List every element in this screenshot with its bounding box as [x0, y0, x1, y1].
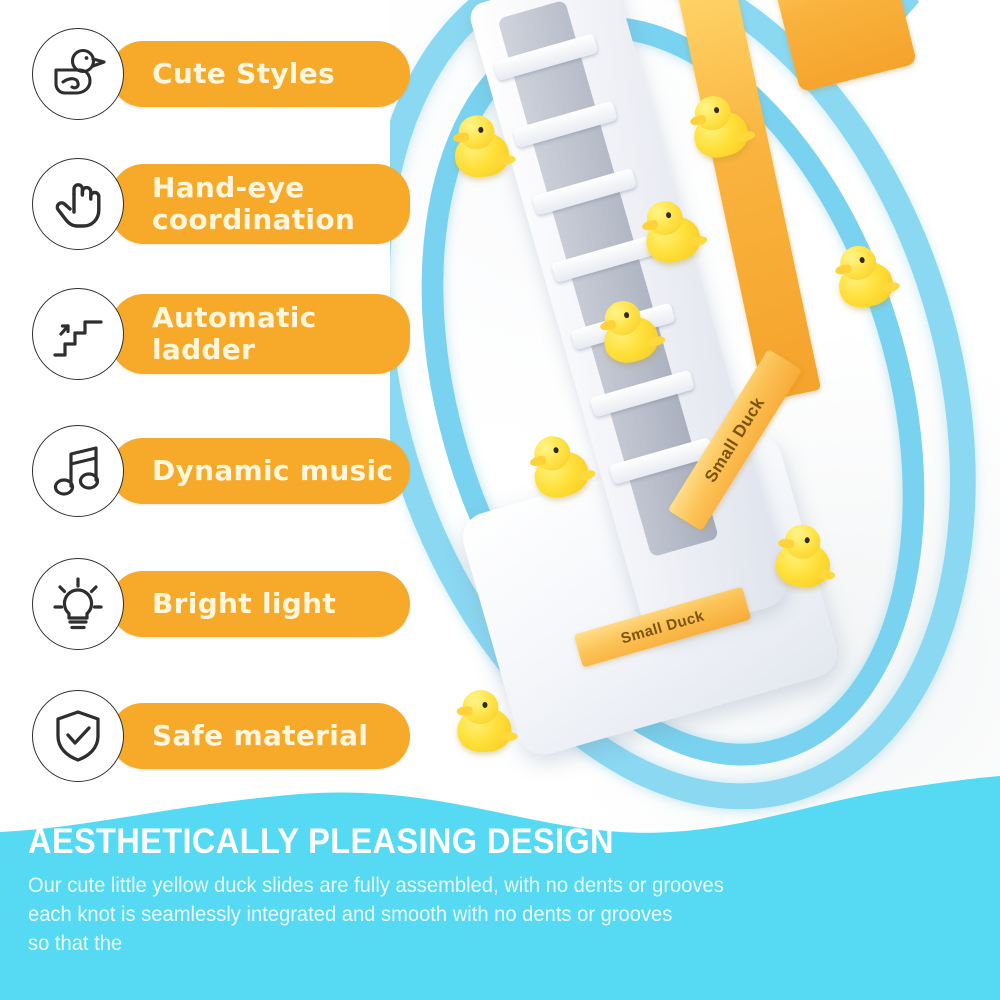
- duck-eye: [804, 537, 810, 543]
- feature-label: Automatic ladder: [152, 302, 317, 367]
- duck-icon: [32, 28, 124, 120]
- feature-label: Hand-eye coordination: [152, 172, 355, 237]
- duck-beak: [599, 319, 617, 332]
- feature-item-hand-eye-coordination[interactable]: Hand-eye coordination: [0, 158, 410, 250]
- pointing-hand-icon: [32, 158, 124, 250]
- duck-eye: [859, 257, 865, 264]
- feature-pill[interactable]: Hand-eye coordination: [110, 164, 410, 245]
- duck-beak: [778, 538, 795, 549]
- stairs-arrow-icon: [32, 288, 124, 380]
- duck-figure: [829, 240, 899, 313]
- feature-item-cute-styles[interactable]: Cute Styles: [0, 28, 410, 120]
- music-note-icon: [32, 425, 124, 517]
- duck-beak: [456, 706, 472, 716]
- feature-label: Bright light: [152, 588, 336, 620]
- banner-body: Our cute little yellow duck slides are f…: [28, 872, 940, 959]
- duck-eye: [713, 107, 719, 114]
- feature-pill[interactable]: Bright light: [110, 571, 410, 637]
- product-photo: Small Duck Small Duck: [390, 0, 1000, 830]
- duck-figure: [449, 112, 513, 180]
- duck-eye: [623, 312, 629, 319]
- feature-item-dynamic-music[interactable]: Dynamic music: [0, 425, 410, 517]
- duck-beak: [529, 455, 547, 468]
- duck-figure: [772, 522, 836, 590]
- shield-check-icon: [32, 690, 124, 782]
- bottom-banner: AESTHETICALLY PLEASING DESIGN Our cute l…: [0, 770, 1000, 1000]
- duck-eye: [478, 127, 484, 133]
- feature-label: Cute Styles: [152, 58, 335, 90]
- feature-item-bright-light[interactable]: Bright light: [0, 558, 410, 650]
- banner-text-block: AESTHETICALLY PLEASING DESIGN Our cute l…: [28, 822, 978, 959]
- feature-pill[interactable]: Cute Styles: [110, 41, 410, 107]
- duck-eye: [553, 447, 559, 454]
- feature-list: Cute Styles Hand-eye coordination Aut: [0, 0, 410, 810]
- duck-beak: [641, 219, 659, 232]
- feature-pill[interactable]: Automatic ladder: [110, 294, 410, 375]
- duck-eye: [482, 702, 487, 708]
- duck-beak: [453, 132, 470, 143]
- feature-pill[interactable]: Dynamic music: [110, 438, 410, 504]
- duck-figure: [454, 689, 514, 753]
- feature-item-safe-material[interactable]: Safe material: [0, 690, 410, 782]
- feature-pill[interactable]: Safe material: [110, 703, 410, 769]
- feature-label: Dynamic music: [152, 455, 393, 487]
- feature-item-automatic-ladder[interactable]: Automatic ladder: [0, 288, 410, 380]
- feature-label: Safe material: [152, 720, 368, 752]
- duck-beak: [834, 264, 852, 276]
- duck-beak: [689, 114, 707, 127]
- duck-eye: [665, 212, 671, 219]
- banner-title: AESTHETICALLY PLEASING DESIGN: [28, 822, 912, 862]
- light-bulb-icon: [32, 558, 124, 650]
